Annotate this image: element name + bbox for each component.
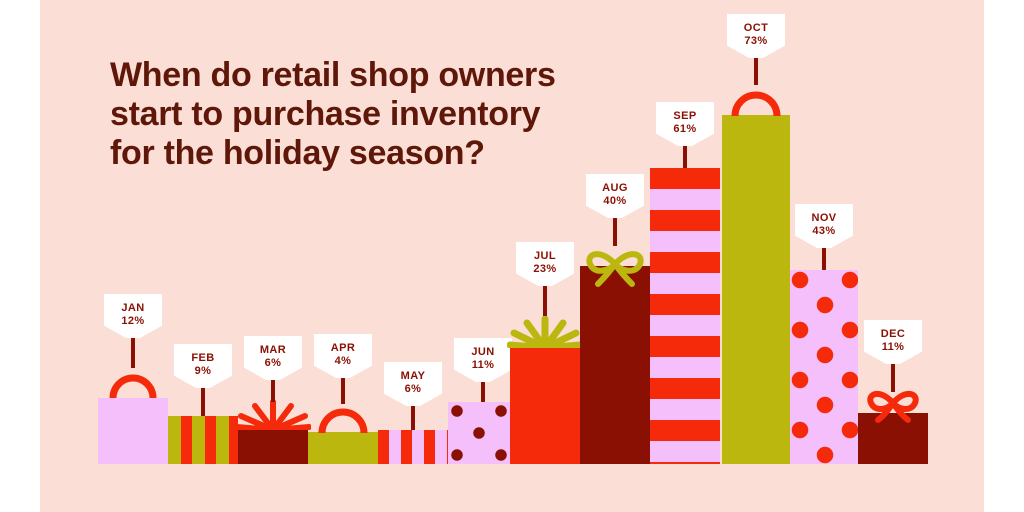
- tag-month: AUG: [595, 182, 635, 195]
- tag-value: 11%: [873, 341, 913, 354]
- bar-group-apr: APR 4%: [308, 432, 378, 464]
- bar-group-aug: AUG 40%: [580, 266, 650, 464]
- starburst-icon: [507, 316, 583, 348]
- tag-value: 23%: [525, 263, 565, 276]
- ribbon-bow-icon: [580, 244, 650, 288]
- bar-jul: [510, 346, 580, 464]
- bar-group-jun: JUN 11%: [448, 402, 518, 464]
- tag-month: JAN: [113, 302, 153, 315]
- tag-month: OCT: [736, 22, 776, 35]
- tag-month: APR: [323, 342, 363, 355]
- tag-value: 40%: [595, 195, 635, 208]
- tag-oct: OCT 73%: [727, 14, 785, 58]
- tag-month: FEB: [183, 352, 223, 365]
- tag-stick: [822, 248, 826, 270]
- tag-stick: [201, 388, 205, 416]
- bar-group-feb: FEB 9%: [168, 416, 238, 464]
- bar-chart: JAN 12% FEB 9%: [0, 0, 1024, 512]
- tag-month: SEP: [665, 110, 705, 123]
- ribbon-bow-icon: [862, 385, 924, 423]
- bag-handle-icon: [727, 84, 785, 116]
- bar-group-dec: DEC 11%: [858, 413, 928, 464]
- tag-sep: SEP 61%: [656, 102, 714, 146]
- label-aug: AUG 40%: [586, 174, 644, 246]
- tag-nov: NOV 43%: [795, 204, 853, 248]
- tag-month: MAY: [393, 370, 433, 383]
- tag-mar: MAR 6%: [244, 336, 302, 380]
- label-dec: DEC 11%: [864, 320, 922, 392]
- tag-aug: AUG 40%: [586, 174, 644, 218]
- bar-group-nov: NOV 43%: [790, 270, 858, 464]
- tag-apr: APR 4%: [314, 334, 372, 378]
- bar-may: [378, 430, 448, 464]
- tag-value: 6%: [253, 357, 293, 370]
- label-jun: JUN 11%: [454, 338, 512, 402]
- tag-value: 4%: [323, 355, 363, 368]
- bar-group-mar: MAR 6%: [238, 428, 308, 464]
- tag-month: DEC: [873, 328, 913, 341]
- tag-stick: [683, 146, 687, 168]
- bag-handle-icon: [314, 403, 372, 433]
- tag-stick: [481, 382, 485, 402]
- bar-aug: [580, 266, 650, 464]
- tag-month: JUL: [525, 250, 565, 263]
- tag-value: 9%: [183, 365, 223, 378]
- label-mar: MAR 6%: [244, 336, 302, 402]
- right-margin: [984, 0, 1024, 512]
- tag-value: 6%: [393, 383, 433, 396]
- tag-value: 11%: [463, 359, 503, 372]
- tag-stick: [754, 58, 758, 85]
- bar-jun: [448, 402, 518, 464]
- bar-group-oct: OCT 73%: [722, 115, 790, 464]
- label-sep: SEP 61%: [656, 102, 714, 168]
- tag-month: NOV: [804, 212, 844, 225]
- chart-baseline: [0, 464, 1024, 512]
- bar-oct: [722, 115, 790, 464]
- left-margin: [0, 0, 40, 512]
- tag-jul: JUL 23%: [516, 242, 574, 286]
- tag-jan: JAN 12%: [104, 294, 162, 338]
- label-jul: JUL 23%: [516, 242, 574, 316]
- bar-sep: [650, 168, 720, 464]
- bar-group-jan: JAN 12%: [98, 398, 168, 464]
- bag-handle-icon: [105, 368, 161, 398]
- tag-stick: [613, 218, 617, 246]
- tag-month: MAR: [253, 344, 293, 357]
- label-may: MAY 6%: [384, 362, 442, 430]
- label-feb: FEB 9%: [174, 344, 232, 416]
- bar-feb: [168, 416, 238, 464]
- bar-group-jul: JUL 23%: [510, 346, 580, 464]
- bar-apr: [308, 432, 378, 464]
- tag-month: JUN: [463, 346, 503, 359]
- bar-nov: [790, 270, 858, 464]
- tag-may: MAY 6%: [384, 362, 442, 406]
- label-jan: JAN 12%: [104, 294, 162, 368]
- label-apr: APR 4%: [314, 334, 372, 404]
- starburst-icon: [235, 400, 311, 430]
- tag-stick: [411, 406, 415, 430]
- tag-stick: [131, 338, 135, 368]
- infographic-canvas: When do retail shop owners start to purc…: [0, 0, 1024, 512]
- tag-value: 73%: [736, 35, 776, 48]
- bar-group-sep: SEP 61%: [650, 168, 720, 464]
- label-oct: OCT 73%: [727, 14, 785, 85]
- label-nov: NOV 43%: [795, 204, 853, 270]
- tag-stick: [543, 286, 547, 316]
- bar-jan: [98, 398, 168, 464]
- tag-value: 12%: [113, 315, 153, 328]
- tag-stick: [271, 380, 275, 402]
- tag-dec: DEC 11%: [864, 320, 922, 364]
- tag-value: 43%: [804, 225, 844, 238]
- tag-feb: FEB 9%: [174, 344, 232, 388]
- bar-mar: [238, 428, 308, 464]
- bar-group-may: MAY 6%: [378, 430, 448, 464]
- tag-value: 61%: [665, 123, 705, 136]
- tag-stick: [341, 378, 345, 404]
- tag-jun: JUN 11%: [454, 338, 512, 382]
